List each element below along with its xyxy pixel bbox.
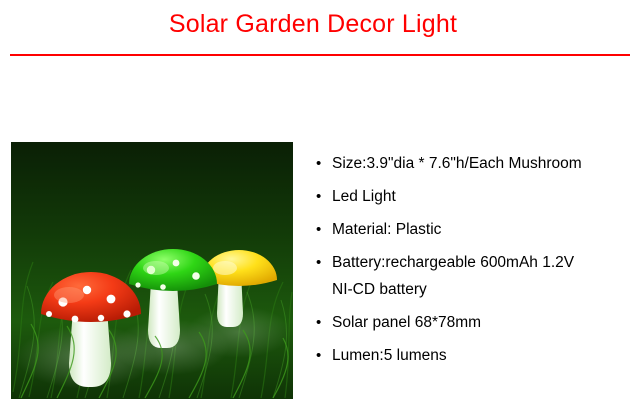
spec-text: Size:3.9"dia * 7.6"h/Each Mushroom [332, 152, 634, 176]
list-item: • Solar panel 68*78mm [316, 311, 634, 335]
title-divider [10, 54, 630, 56]
list-item: • Battery:rechargeable 600mAh 1.2V [316, 251, 634, 275]
bullet-marker-icon: • [316, 218, 332, 242]
list-item: • Led Light [316, 185, 634, 209]
spec-text: Solar panel 68*78mm [332, 311, 634, 335]
bullet-marker-icon: • [316, 251, 332, 275]
bullet-marker-icon: • [316, 344, 332, 368]
mushroom-solar-lights-photo [11, 142, 293, 399]
list-item: • Lumen:5 lumens [316, 344, 634, 368]
spec-text-continuation: NI-CD battery [332, 278, 634, 302]
list-item: • Size:3.9"dia * 7.6"h/Each Mushroom [316, 152, 634, 176]
specs-list: • Size:3.9"dia * 7.6"h/Each Mushroom • L… [316, 152, 634, 377]
spec-text: Led Light [332, 185, 634, 209]
list-item: • Material: Plastic [316, 218, 634, 242]
bullet-marker-icon: • [316, 152, 332, 176]
page-title: Solar Garden Decor Light [0, 8, 640, 40]
bullet-marker-icon: • [316, 311, 332, 335]
bullet-marker-icon: • [316, 185, 332, 209]
spec-text: Material: Plastic [332, 218, 634, 242]
spec-text: Lumen:5 lumens [332, 344, 634, 368]
spec-text: Battery:rechargeable 600mAh 1.2V [332, 251, 634, 275]
slide-page: Solar Garden Decor Light [0, 0, 640, 412]
